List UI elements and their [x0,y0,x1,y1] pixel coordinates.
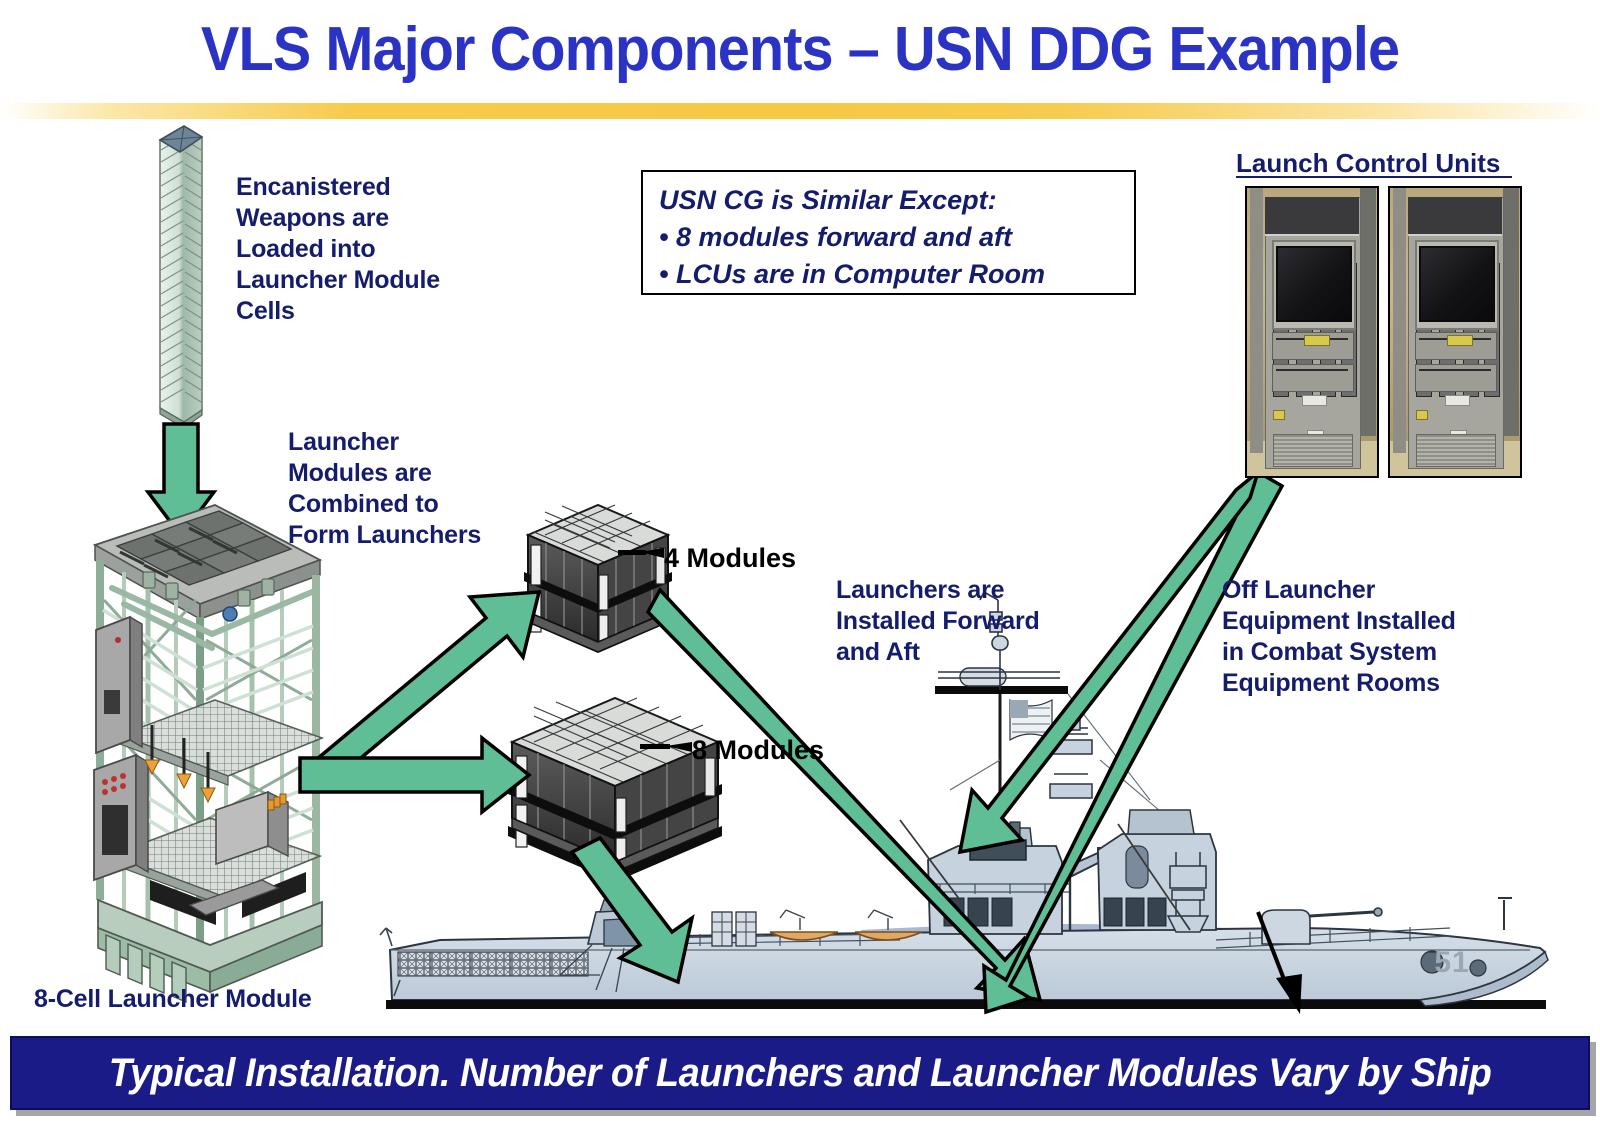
lcu-top-panel [1408,197,1502,236]
lcu-nameplate [1302,395,1327,406]
callout-bullet-2: • LCUs are in Computer Room [659,256,1118,293]
launch-control-unit-photo-left [1245,186,1379,478]
label-launchers-installed: Launchers are Installed Forward and Aft [836,575,1076,668]
label-encanistered-weapons: Encanistered Weapons are Loaded into Lau… [236,172,476,327]
lcu-air-intake-grille [1273,434,1353,468]
arrow-module-to-four-modules [317,592,539,777]
lcu-drawer-lower[interactable] [1415,364,1498,392]
label-off-launcher-equipment: Off Launcher Equipment Installed in Comb… [1222,575,1502,699]
label-launcher-modules-combined: Launcher Modules are Combined to Form La… [288,427,518,551]
launch-control-units-underline [1236,176,1512,178]
four-module-launcher-block [524,505,672,653]
lcu-right-doorframe [1360,188,1376,436]
lcu-right-doorframe [1503,188,1519,436]
footer-banner: Typical Installation. Number of Launcher… [10,1036,1590,1110]
title-divider-rule [0,103,1600,119]
label-launch-control-units: Launch Control Units [1236,148,1500,179]
lcu-side-label [1416,410,1428,421]
arrow-lcu-to-ship [984,472,1282,1012]
slide-canvas: VLS Major Components – USN DDG Example [0,0,1600,1126]
arrow-module-to-eight-modules [300,738,529,812]
ship-hull-number: 51 [1434,946,1469,979]
label-eight-modules: 8 Modules [692,735,824,766]
lcu-nameplate [1445,395,1470,406]
lcu-drawer-slot-2 [1276,369,1349,371]
eight-cell-launcher-module-illustration [94,505,322,1002]
page-title: VLS Major Components – USN DDG Example [56,8,1544,92]
arrow-canister-to-module [148,424,214,536]
lcu-side-label [1273,410,1285,421]
lcu-air-intake-grille [1416,434,1496,468]
lcu-display-screen[interactable] [1419,246,1496,322]
pointer-arrow-forward-vls [1258,912,1302,1014]
lcu-left-doorframe [1393,188,1406,453]
pointer-line-ship-mid [1118,824,1190,930]
lcu-top-panel [1265,197,1359,236]
lcu-drawer-slot-2 [1419,369,1492,371]
lcu-display-screen[interactable] [1276,246,1353,322]
eight-module-launcher-block [508,698,722,882]
arrow-eight-modules-to-ship-deck [572,838,692,982]
footer-banner-text: Typical Installation. Number of Launcher… [51,1038,1548,1108]
launch-control-unit-photo-right [1388,186,1522,478]
label-eight-cell-launcher-module: 8-Cell Launcher Module [34,984,312,1015]
lcu-caution-label [1447,335,1472,346]
lcu-drawer-lower[interactable] [1272,364,1355,392]
callout-heading: USN CG is Similar Except: [659,182,1118,219]
lcu-left-doorframe [1250,188,1263,453]
label-four-modules: 4 Modules [664,543,796,574]
encanistered-weapon-canister [160,126,202,428]
callout-usn-cg-note: USN CG is Similar Except: • 8 modules fo… [641,170,1136,295]
callout-bullet-1: • 8 modules forward and aft [659,219,1118,256]
lcu-caution-label [1304,335,1329,346]
pointer-line-ship-aft [900,820,960,900]
